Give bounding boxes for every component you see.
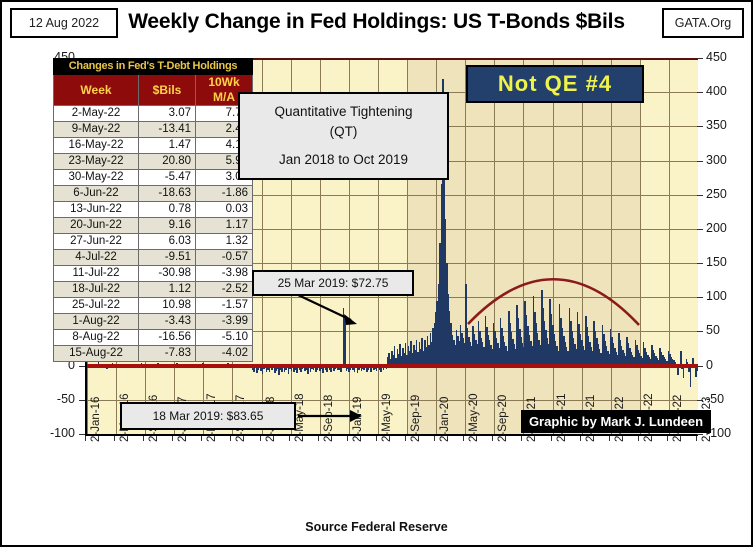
y-axis-tick-label-right: 300	[706, 153, 752, 167]
x-axis-tick	[551, 436, 552, 441]
y-axis-tick-right	[697, 263, 703, 264]
col-header-bils: $Bils	[139, 75, 196, 106]
y-axis-tick-label-right: 150	[706, 255, 752, 269]
x-axis-tick	[85, 436, 86, 441]
table-caption: Changes in Fed's T-Debt Holdings	[54, 59, 253, 75]
y-axis-tick-label-right: 200	[706, 221, 752, 235]
x-axis-tick	[376, 436, 377, 441]
cell-week: 15-Aug-22	[54, 346, 139, 362]
table-row: 27-Jun-226.031.32	[54, 234, 253, 250]
y-axis-tick-right	[697, 331, 703, 332]
table-row: 1-Aug-22-3.43-3.99	[54, 314, 253, 330]
y-axis-tick-right	[697, 366, 703, 367]
mar25-callout: 25 Mar 2019: $72.75	[252, 270, 414, 296]
cell-bils: -13.41	[139, 122, 196, 138]
cell-bils: -18.63	[139, 186, 196, 202]
x-axis-tick-label: 2-Jan-16	[90, 397, 102, 442]
table-row: 16-May-221.474.12	[54, 138, 253, 154]
x-axis-tick	[463, 436, 464, 441]
x-axis-tick	[318, 436, 319, 441]
cell-week: 25-Jul-22	[54, 298, 139, 314]
cell-bils: 0.78	[139, 202, 196, 218]
brand-label: GATA.Org	[675, 16, 732, 30]
chart-root: 12 Aug 2022 Weekly Change in Fed Holding…	[0, 0, 753, 547]
x-axis-tick	[405, 436, 406, 441]
x-axis-tick-label: 2-May-19	[381, 393, 393, 442]
cell-week: 27-Jun-22	[54, 234, 139, 250]
bar	[690, 366, 692, 387]
cell-week: 6-Jun-22	[54, 186, 139, 202]
table-header-row: Week $Bils 10Wk M/A	[54, 75, 253, 106]
mar18-callout: 18 Mar 2019: $83.65	[120, 402, 296, 430]
qt-line-3: Jan 2018 to Oct 2019	[279, 150, 408, 170]
gridline-vertical	[494, 58, 495, 434]
table-caption-row: Changes in Fed's T-Debt Holdings	[54, 59, 253, 75]
table-row: 11-Jul-22-30.98-3.98	[54, 266, 253, 282]
cell-bils: -30.98	[139, 266, 196, 282]
y-axis-tick-label-right: 0	[706, 358, 752, 372]
credit-label: Graphic by Mark J. Lundeen	[529, 414, 703, 429]
cell-bils: -7.83	[139, 346, 196, 362]
x-axis-tick	[521, 436, 522, 441]
y-axis-tick-right	[697, 126, 703, 127]
cell-ma: -1.86	[196, 186, 253, 202]
gridline-vertical	[611, 58, 612, 434]
cell-ma: -2.52	[196, 282, 253, 298]
x-axis-tick	[230, 436, 231, 441]
not-qe-label: Not QE #4	[498, 71, 612, 97]
cell-bils: 3.07	[139, 106, 196, 122]
cell-week: 23-May-22	[54, 154, 139, 170]
gridline-vertical	[640, 58, 641, 434]
table-row: 20-Jun-229.161.17	[54, 218, 253, 234]
x-axis-tick	[172, 436, 173, 441]
cell-week: 20-Jun-22	[54, 218, 139, 234]
cell-week: 18-Jul-22	[54, 282, 139, 298]
table-head: Changes in Fed's T-Debt Holdings Week $B…	[54, 59, 253, 106]
table-body: 2-May-223.077.769-May-22-13.412.4916-May…	[54, 106, 253, 362]
y-axis-tick-label-right: 100	[706, 289, 752, 303]
cell-bils: 6.03	[139, 234, 196, 250]
table-row: 23-May-2220.805.93	[54, 154, 253, 170]
cell-week: 1-Aug-22	[54, 314, 139, 330]
gridline-vertical	[669, 58, 670, 434]
cell-ma: 1.17	[196, 218, 253, 234]
cell-bils: 10.98	[139, 298, 196, 314]
table-row: 4-Jul-22-9.51-0.57	[54, 250, 253, 266]
x-axis-tick	[260, 436, 261, 441]
cell-bils: -16.56	[139, 330, 196, 346]
cell-ma: -4.02	[196, 346, 253, 362]
cell-ma: -3.99	[196, 314, 253, 330]
x-axis-tick	[289, 436, 290, 441]
cell-bils: 9.16	[139, 218, 196, 234]
cell-ma: 1.32	[196, 234, 253, 250]
gridline-vertical	[582, 58, 583, 434]
y-axis-tick-label: -100	[33, 426, 75, 440]
y-axis-tick-right	[697, 161, 703, 162]
x-axis-tick	[492, 436, 493, 441]
y-axis-tick-label-right: 400	[706, 84, 752, 98]
x-axis-tick	[114, 436, 115, 441]
page-title: Weekly Change in Fed Holdings: US T-Bond…	[2, 10, 751, 34]
cell-week: 16-May-22	[54, 138, 139, 154]
y-axis-tick-right	[697, 229, 703, 230]
zero-line	[87, 364, 698, 368]
x-axis-tick	[580, 436, 581, 441]
cell-week: 9-May-22	[54, 122, 139, 138]
source-label: Source Federal Reserve	[2, 520, 751, 534]
y-axis-tick-label-right: 50	[706, 323, 752, 337]
cell-week: 11-Jul-22	[54, 266, 139, 282]
brand-badge: GATA.Org	[662, 8, 744, 38]
x-axis-tick-label: 2-Jan-19	[352, 397, 364, 442]
cell-ma: 0.03	[196, 202, 253, 218]
cell-ma: -5.10	[196, 330, 253, 346]
x-axis-tick-label: 2-May-20	[468, 393, 480, 442]
table-row: 18-Jul-221.12-2.52	[54, 282, 253, 298]
gridline-vertical	[553, 58, 554, 434]
cell-ma: -0.57	[196, 250, 253, 266]
qt-annotation: Quantitative Tightening (QT) Jan 2018 to…	[238, 92, 449, 180]
cell-bils: -3.43	[139, 314, 196, 330]
cell-ma: -1.57	[196, 298, 253, 314]
table-row: 25-Jul-2210.98-1.57	[54, 298, 253, 314]
mar18-label: 18 Mar 2019: $83.65	[153, 409, 264, 423]
cell-bils: 1.12	[139, 282, 196, 298]
fed-holdings-table: Changes in Fed's T-Debt Holdings Week $B…	[53, 58, 253, 362]
x-axis-tick	[143, 436, 144, 441]
y-axis-tick-right	[697, 58, 703, 59]
y-axis-tick-right	[697, 195, 703, 196]
cell-week: 4-Jul-22	[54, 250, 139, 266]
qt-line-2: (QT)	[330, 122, 358, 142]
x-axis-tick	[696, 436, 697, 441]
gridline-vertical	[523, 58, 524, 434]
x-axis-tick	[667, 436, 668, 441]
cell-week: 30-May-22	[54, 170, 139, 186]
y-axis-tick-label-right: 450	[706, 50, 752, 64]
y-axis-tick-label: -50	[33, 392, 75, 406]
table-row: 6-Jun-22-18.63-1.86	[54, 186, 253, 202]
table-row: 2-May-223.077.76	[54, 106, 253, 122]
cell-week: 2-May-22	[54, 106, 139, 122]
y-axis-tick-right	[697, 297, 703, 298]
cell-bils: 1.47	[139, 138, 196, 154]
x-axis-tick-label: 2-Sep-19	[410, 395, 422, 442]
x-axis-tick	[609, 436, 610, 441]
x-axis-tick-label: 2-Jan-20	[439, 397, 451, 442]
cell-ma: -3.98	[196, 266, 253, 282]
y-axis-tick	[79, 366, 85, 367]
qt-line-1: Quantitative Tightening	[274, 102, 412, 122]
cell-week: 8-Aug-22	[54, 330, 139, 346]
y-axis-tick	[79, 434, 85, 435]
x-axis-tick	[347, 436, 348, 441]
x-axis-tick	[434, 436, 435, 441]
bar	[344, 316, 346, 366]
x-axis-tick	[638, 436, 639, 441]
not-qe-badge: Not QE #4	[466, 65, 644, 103]
x-axis-tick-label: 2-Sep-18	[323, 395, 335, 442]
y-axis-tick-label-right: 350	[706, 118, 752, 132]
cell-week: 13-Jun-22	[54, 202, 139, 218]
cell-bils: -9.51	[139, 250, 196, 266]
table-row: 13-Jun-220.780.03	[54, 202, 253, 218]
cell-bils: -5.47	[139, 170, 196, 186]
table-row: 8-Aug-22-16.56-5.10	[54, 330, 253, 346]
x-axis-tick-label: 2-Sep-20	[497, 395, 509, 442]
mar25-label: 25 Mar 2019: $72.75	[278, 276, 389, 290]
col-header-week: Week	[54, 75, 139, 106]
cell-bils: 20.80	[139, 154, 196, 170]
y-axis-tick-right	[697, 92, 703, 93]
table-row: 30-May-22-5.473.01	[54, 170, 253, 186]
credit-badge: Graphic by Mark J. Lundeen	[521, 410, 711, 433]
gridline-vertical	[465, 58, 466, 434]
y-axis-tick-label-right: 250	[706, 187, 752, 201]
y-axis-tick	[79, 400, 85, 401]
x-axis-tick	[201, 436, 202, 441]
table-row: 9-May-22-13.412.49	[54, 122, 253, 138]
table-row: 15-Aug-22-7.83-4.02	[54, 346, 253, 362]
